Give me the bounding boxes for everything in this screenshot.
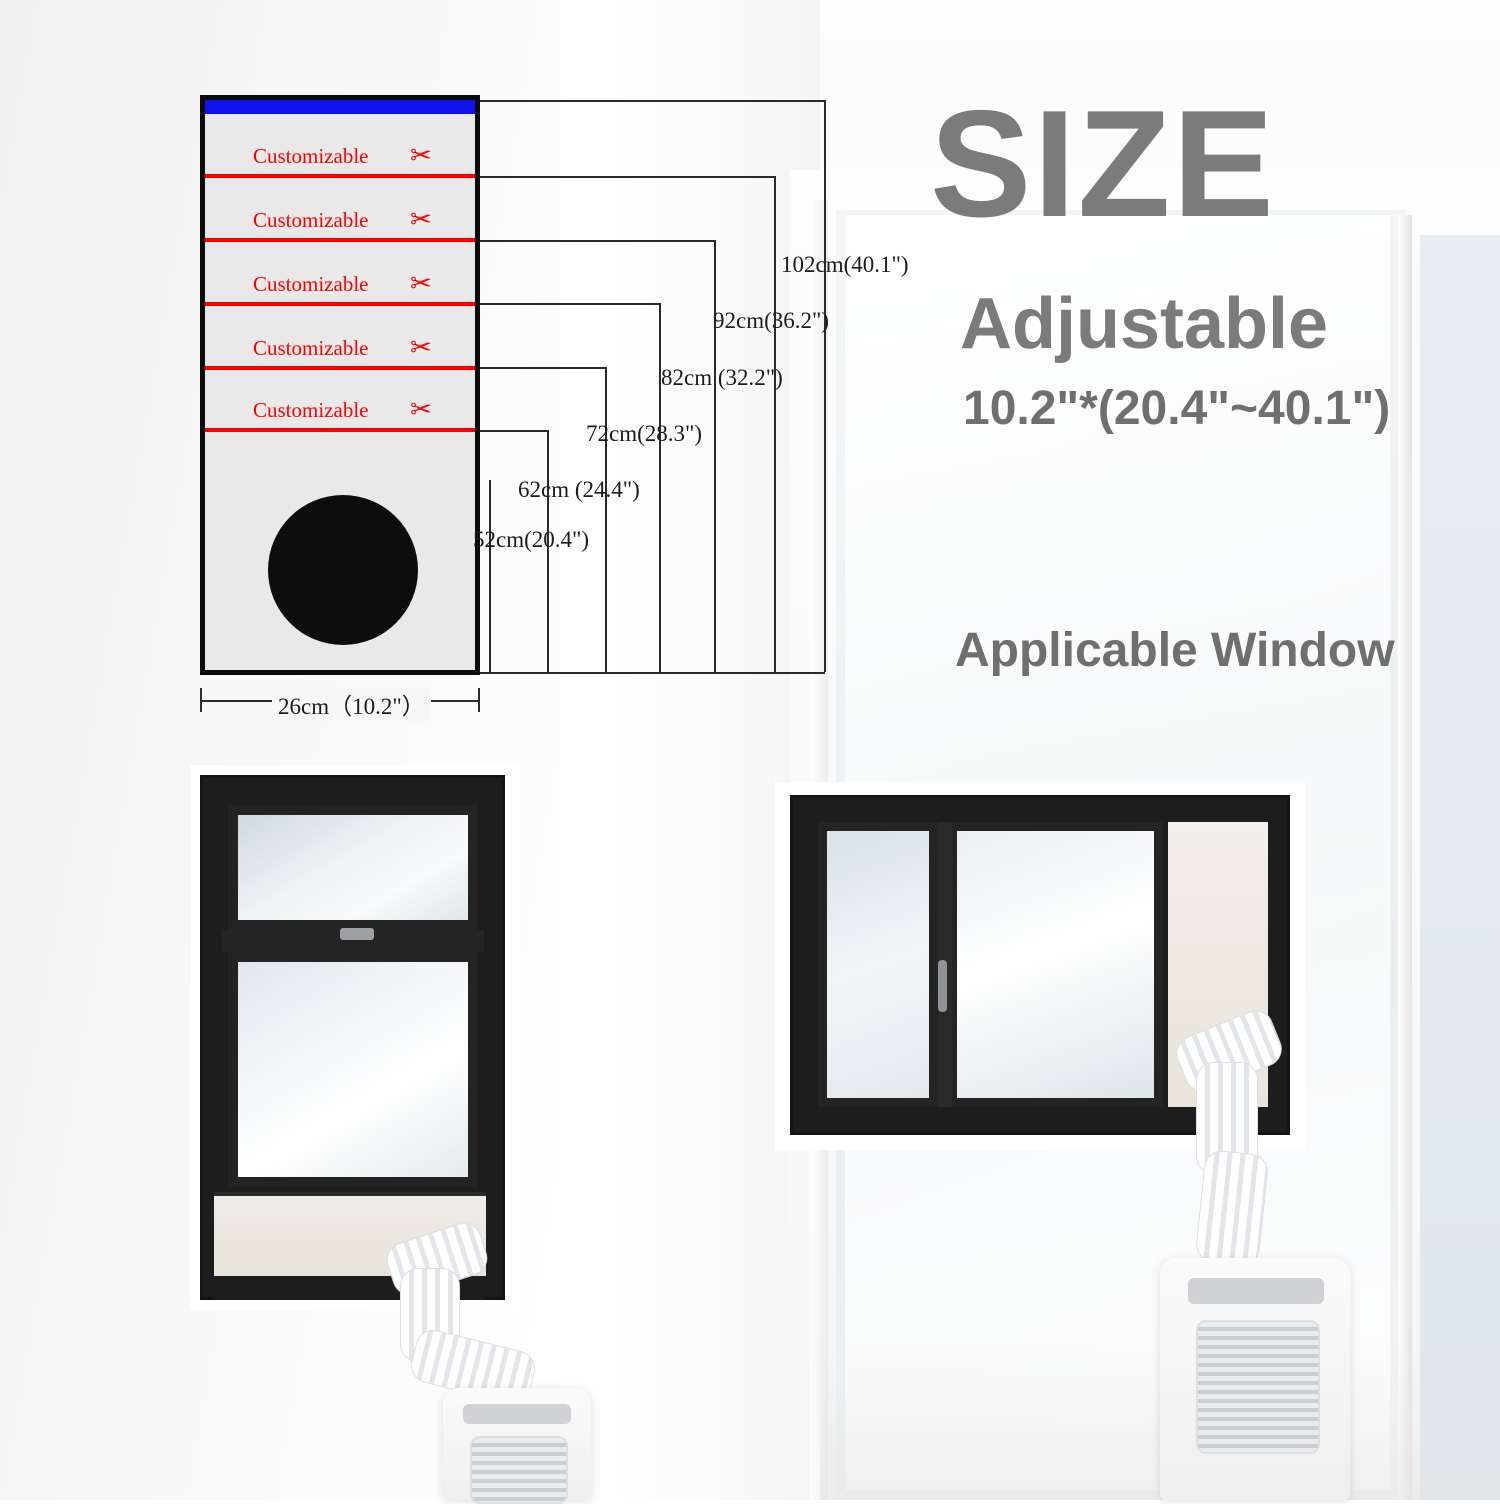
measure-bar-92 bbox=[774, 176, 776, 672]
scissors-icon-1: ✂ bbox=[410, 142, 432, 168]
hose-hole bbox=[268, 495, 418, 645]
slider-middle-pane bbox=[948, 822, 1163, 1107]
cut-line-row-5: Customizable ✂ bbox=[205, 428, 475, 430]
scissors-icon-3: ✂ bbox=[410, 270, 432, 296]
cut-line-row-4: Customizable ✂ bbox=[205, 366, 475, 368]
double-hung-lower-sash bbox=[228, 952, 478, 1187]
measure-bar-82 bbox=[714, 240, 716, 672]
dimension-label-82: 82cm (32.2") bbox=[661, 365, 783, 391]
baseline-line bbox=[480, 672, 825, 674]
heading-applicable-window: Applicable Window bbox=[955, 627, 1395, 675]
background-window-vertical-bar bbox=[1398, 215, 1412, 1500]
panel-top-strip bbox=[205, 100, 475, 114]
background-wall-panel bbox=[560, 0, 820, 1500]
dimension-label-72: 72cm(28.3") bbox=[586, 421, 702, 447]
leader-line-102 bbox=[480, 100, 825, 102]
leader-line-92 bbox=[480, 176, 775, 178]
cut-line-row-3: Customizable ✂ bbox=[205, 302, 475, 304]
scissors-icon-5: ✂ bbox=[410, 396, 432, 422]
slider-handle bbox=[938, 960, 947, 1012]
cut-line-1 bbox=[205, 174, 475, 178]
cut-label-5: Customizable bbox=[253, 398, 368, 423]
exhaust-hose-segment-6 bbox=[1194, 1149, 1269, 1267]
ac-control-panel-2 bbox=[1188, 1278, 1324, 1304]
cut-label-3: Customizable bbox=[253, 272, 368, 297]
ac-vent-2 bbox=[1196, 1320, 1320, 1454]
measure-bar-102 bbox=[824, 100, 826, 672]
measure-bar-62 bbox=[605, 367, 607, 672]
width-dimension-label: 26cm（10.2"） bbox=[272, 687, 431, 721]
measure-bar-72 bbox=[659, 303, 661, 672]
cut-line-row-2: Customizable ✂ bbox=[205, 238, 475, 240]
heading-size: SIZE bbox=[930, 88, 1276, 240]
width-tick-left bbox=[200, 688, 202, 712]
ac-control-panel-1 bbox=[463, 1404, 571, 1424]
cut-line-3 bbox=[205, 302, 475, 306]
leader-line-62 bbox=[480, 367, 606, 369]
dimension-label-102: 102cm(40.1") bbox=[781, 252, 909, 278]
cut-line-row-1: Customizable ✂ bbox=[205, 174, 475, 176]
slider-left-pane bbox=[818, 822, 938, 1107]
heading-dimensions: 10.2"*(20.4"~40.1") bbox=[963, 385, 1390, 433]
cut-line-4 bbox=[205, 366, 475, 370]
cut-label-4: Customizable bbox=[253, 336, 368, 361]
heading-adjustable: Adjustable bbox=[960, 288, 1328, 360]
dimension-label-92: 92cm(36.2") bbox=[713, 308, 829, 334]
double-hung-upper-sash bbox=[228, 805, 478, 930]
scissors-icon-4: ✂ bbox=[410, 334, 432, 360]
scissors-icon-2: ✂ bbox=[410, 206, 432, 232]
background-window-glass-side bbox=[1420, 235, 1500, 1500]
leader-line-82 bbox=[480, 240, 715, 242]
cut-label-1: Customizable bbox=[253, 144, 368, 169]
cut-label-2: Customizable bbox=[253, 208, 368, 233]
width-tick-right bbox=[478, 688, 480, 712]
dimension-label-62: 62cm (24.4") bbox=[518, 477, 640, 503]
double-hung-latch bbox=[340, 928, 374, 940]
leader-line-72 bbox=[480, 303, 660, 305]
cut-line-5 bbox=[205, 428, 475, 432]
cut-line-2 bbox=[205, 238, 475, 242]
measure-bar-extra bbox=[489, 480, 491, 672]
dimension-label-52: 52cm(20.4") bbox=[473, 527, 589, 553]
ac-vent-1 bbox=[470, 1436, 568, 1504]
leader-line-52 bbox=[480, 430, 548, 432]
